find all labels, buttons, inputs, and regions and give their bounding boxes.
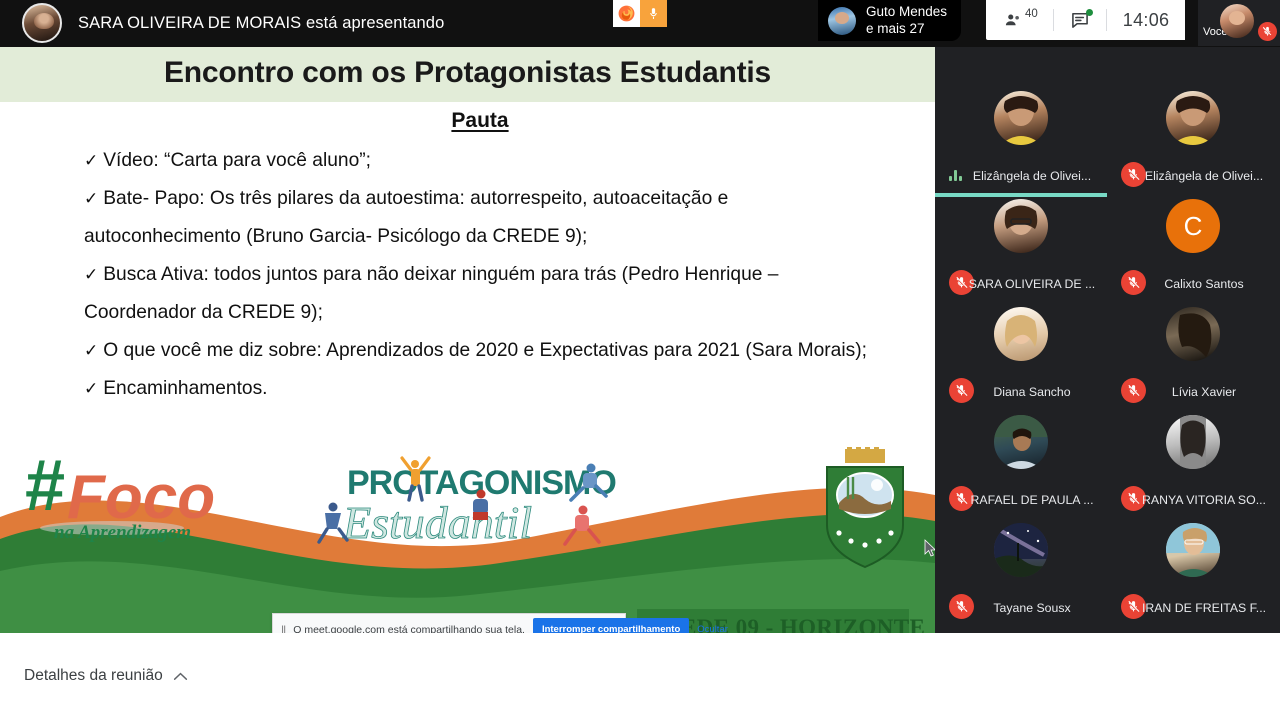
avatar (1166, 307, 1220, 361)
meeting-details-button[interactable]: Detalhes da reunião (24, 667, 188, 685)
svg-text:na Aprendizagem: na Aprendizagem (54, 522, 191, 542)
participant-tile[interactable]: RANYA VITORIA SO... (1107, 413, 1279, 521)
chevron-up-icon (173, 672, 188, 681)
slide-bullet-item: ✓Bate- Papo: Os três pilares da autoesti… (84, 180, 884, 256)
self-view-avatar (1220, 4, 1254, 38)
logo-protagonismo-estudantil: PROTAGONISMO Estudantil (303, 452, 623, 557)
top-bar: SARA OLIVEIRA DE MORAIS está apresentand… (0, 0, 1280, 47)
self-view-tile[interactable]: Você (1198, 0, 1280, 46)
active-speaker-name: Guto Mendes (866, 4, 947, 20)
participant-row: Tayane Sousx IRAN DE FREITAS F... (935, 521, 1280, 629)
participant-tile[interactable]: Lívia Xavier (1107, 305, 1279, 413)
bullet-text: Bate- Papo: Os três pilares da autoestim… (84, 188, 728, 247)
browser-sharing-indicator (613, 0, 667, 27)
hide-sharing-bar-link[interactable]: Ocultar (697, 624, 728, 633)
presenter-avatar (22, 3, 62, 43)
firefox-icon (613, 0, 640, 27)
microphone-icon (640, 0, 667, 27)
participant-tile[interactable]: IRAN DE FREITAS F... (1107, 521, 1279, 629)
brasao-ceara-icon (815, 447, 915, 572)
participant-grid: Elizângela de Olivei... Elizângela de Ol… (935, 47, 1280, 633)
slide-bullet-item: ✓Vídeo: “Carta para você aluno”; (84, 142, 884, 180)
svg-text:Estudantil: Estudantil (342, 497, 532, 548)
slide-bullet-item: ✓Busca Ativa: todos juntos para não deix… (84, 256, 884, 332)
avatar (1166, 91, 1220, 145)
avatar (994, 199, 1048, 253)
participant-row: RAFAEL DE PAULA ... RANYA VITORIA SO... (935, 413, 1280, 521)
participant-tile[interactable]: Diana Sancho (935, 305, 1107, 413)
participant-tile[interactable]: RAFAEL DE PAULA ... (935, 413, 1107, 521)
presenter-banner-text: SARA OLIVEIRA DE MORAIS está apresentand… (78, 14, 444, 33)
drag-handle-icon[interactable]: || (281, 623, 285, 634)
chat-unread-dot (1086, 9, 1093, 16)
participant-name: Tayane Sousx (935, 601, 1107, 615)
meeting-details-label: Detalhes da reunião (24, 667, 163, 685)
participant-name: Calixto Santos (1107, 277, 1279, 291)
bottom-control-bar: Detalhes da reunião (0, 633, 1280, 719)
slide-bullet-item: ✓Encaminhamentos. (84, 370, 884, 408)
participants-count: 40 (1025, 8, 1038, 20)
share-message: O meet.google.com está compartilhando su… (293, 624, 525, 634)
participant-name: RANYA VITORIA SO... (1107, 493, 1279, 507)
participant-name: Elizângela de Olivei... (935, 169, 1107, 183)
chat-button[interactable] (1054, 0, 1106, 40)
stop-sharing-button[interactable]: Interromper compartilhamento (533, 618, 689, 633)
mouse-cursor-icon (924, 539, 935, 558)
participant-tile[interactable]: C Calixto Santos (1107, 197, 1279, 305)
check-icon: ✓ (84, 189, 98, 208)
meeting-time: 14:06 (1107, 10, 1186, 31)
bullet-text: Encaminhamentos. (103, 378, 267, 399)
svg-text:#: # (24, 446, 64, 526)
participant-name: RAFAEL DE PAULA ... (935, 493, 1107, 507)
participant-row: Elizângela de Olivei... Elizângela de Ol… (935, 89, 1280, 197)
participant-name: IRAN DE FREITAS F... (1107, 601, 1279, 615)
participant-tile[interactable]: Tayane Sousx (935, 521, 1107, 629)
participant-row: Diana Sancho Lívia Xavier (935, 305, 1280, 413)
top-status-strip: 40 14:06 (986, 0, 1185, 40)
bullet-text: Busca Ativa: todos juntos para não deixa… (84, 264, 778, 323)
participant-tile[interactable]: Elizângela de Olivei... (935, 89, 1107, 197)
check-icon: ✓ (84, 341, 98, 360)
active-speaker-chip: Guto Mendes e mais 27 (818, 0, 961, 41)
participant-name: Lívia Xavier (1107, 385, 1279, 399)
participant-row: SARA OLIVEIRA DE ... C Calixto Santos (935, 197, 1280, 305)
avatar (1166, 415, 1220, 469)
slide-bullet-list: ✓Vídeo: “Carta para você aluno”; ✓Bate- … (84, 142, 884, 408)
check-icon: ✓ (84, 265, 98, 284)
active-speaker-avatar (828, 7, 856, 35)
avatar (994, 415, 1048, 469)
avatar (994, 523, 1048, 577)
participant-name: Elizângela de Olivei... (1107, 169, 1279, 183)
shared-screen-slide: Encontro com os Protagonistas Estudantis… (0, 47, 935, 633)
screen-share-notification-bar: || O meet.google.com está compartilhando… (272, 613, 626, 633)
presenter-banner: SARA OLIVEIRA DE MORAIS está apresentand… (22, 3, 444, 43)
participant-tile[interactable]: Elizângela de Olivei... (1107, 89, 1279, 197)
slide-title: Encontro com os Protagonistas Estudantis (0, 56, 935, 90)
check-icon: ✓ (84, 379, 98, 398)
avatar (1166, 523, 1220, 577)
self-mic-off-icon (1258, 22, 1277, 41)
participant-name: SARA OLIVEIRA DE ... (935, 277, 1107, 291)
participant-tile[interactable]: SARA OLIVEIRA DE ... (935, 197, 1107, 305)
bullet-text: Vídeo: “Carta para você aluno”; (103, 150, 371, 171)
participant-name: Diana Sancho (935, 385, 1107, 399)
logo-foco-na-aprendizagem: # Foco na Aprendizagem (22, 442, 232, 542)
avatar (994, 91, 1048, 145)
active-speaker-more: e mais 27 (866, 21, 947, 37)
slide-bullet-item: ✓O que você me diz sobre: Aprendizados d… (84, 332, 884, 370)
check-icon: ✓ (84, 151, 98, 170)
slide-subtitle: Pauta (0, 109, 935, 133)
avatar (994, 307, 1048, 361)
participants-button[interactable]: 40 (986, 0, 1053, 40)
bullet-text: O que você me diz sobre: Aprendizados de… (103, 340, 867, 361)
google-meet-window: SARA OLIVEIRA DE MORAIS está apresentand… (0, 0, 1280, 719)
avatar-initial: C (1166, 199, 1220, 253)
